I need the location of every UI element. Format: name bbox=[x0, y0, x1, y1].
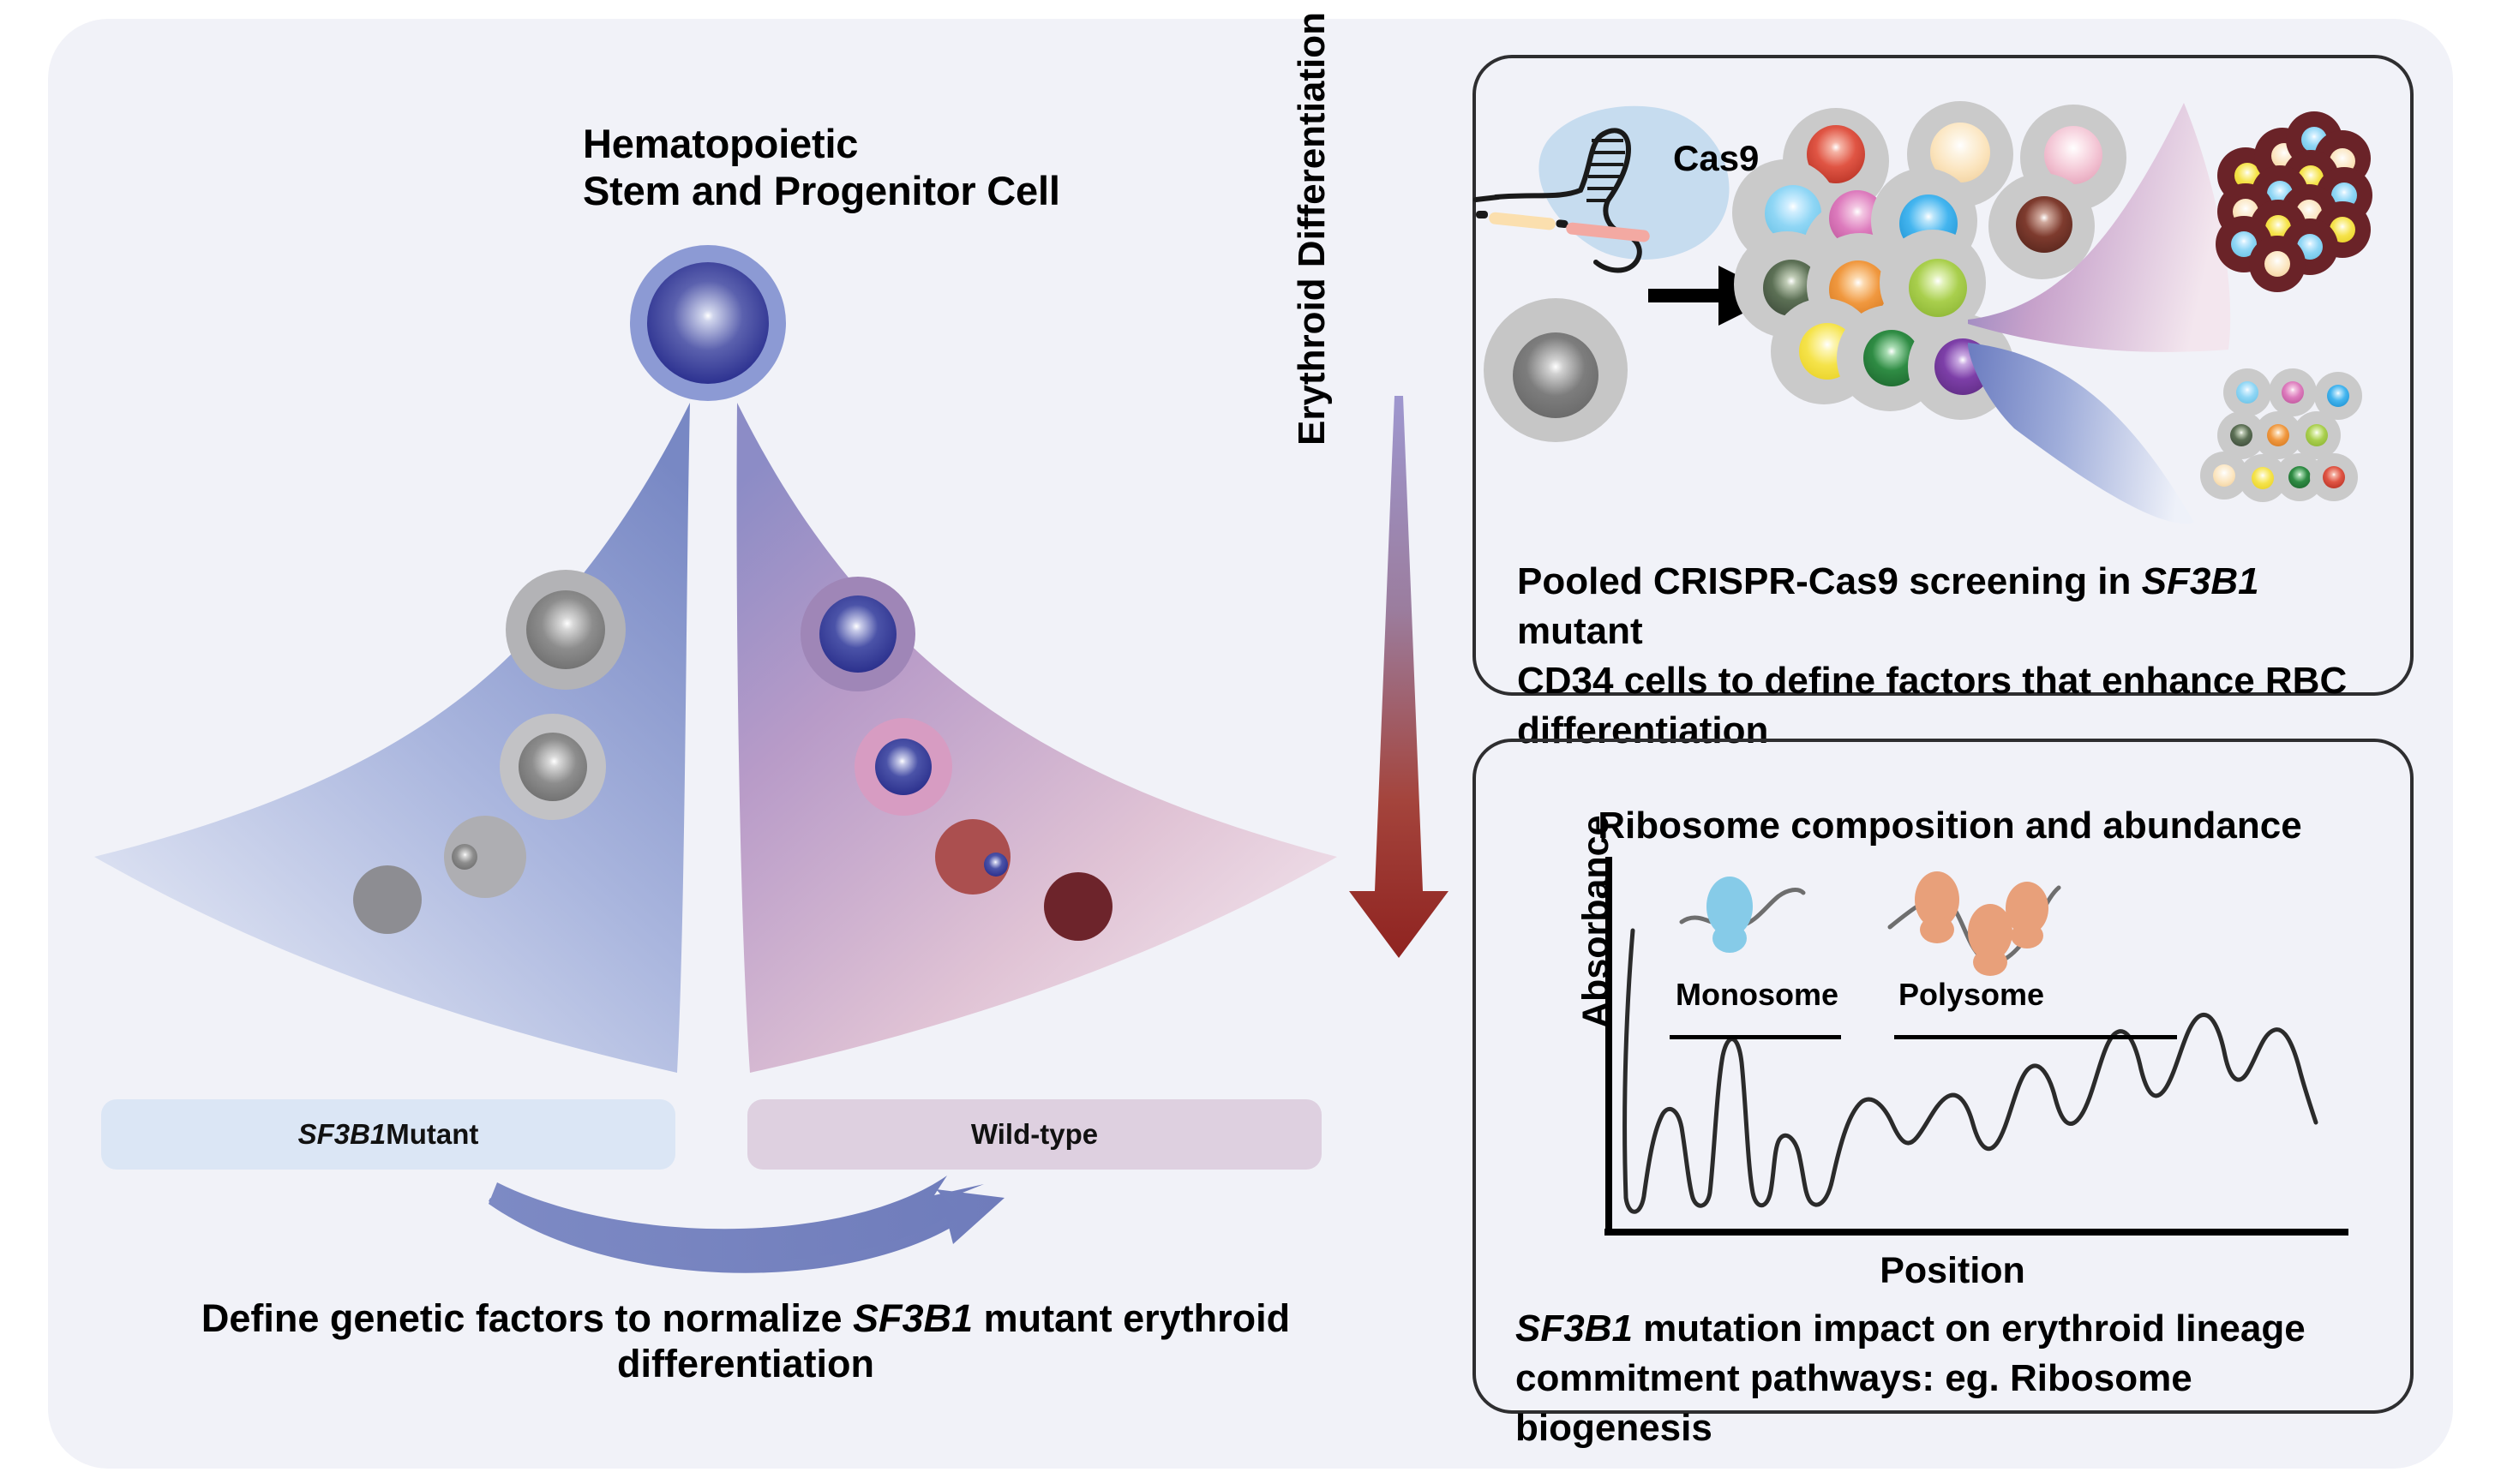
ribo-caption-post: mutation impact on erythroid lineage bbox=[1633, 1307, 2306, 1349]
x-axis-label: Position bbox=[1815, 1249, 2090, 1293]
polysome-trace bbox=[1625, 930, 2316, 1212]
monosome-label: Monosome bbox=[1676, 977, 1838, 1013]
polysome-label: Polysome bbox=[1898, 977, 2044, 1013]
ribo-caption-gene: SF3B1 bbox=[1515, 1307, 1633, 1349]
polysome-chart-svg bbox=[0, 0, 2501, 1484]
monosome-range-bar bbox=[1670, 1035, 1841, 1039]
ribo-caption-line2: commitment pathways: eg. Ribosome biogen… bbox=[1515, 1357, 2192, 1449]
polysome-icon bbox=[1890, 871, 2059, 976]
y-axis-label: Absorbance bbox=[1575, 815, 1617, 1028]
polysome-range-bar bbox=[1894, 1035, 2177, 1039]
ribosome-panel-caption: SF3B1 mutation impact on erythroid linea… bbox=[1515, 1304, 2390, 1453]
monosome-icon bbox=[1682, 877, 1803, 953]
graphical-abstract-canvas: Hematopoietic Stem and Progenitor Cell S… bbox=[0, 0, 2501, 1484]
